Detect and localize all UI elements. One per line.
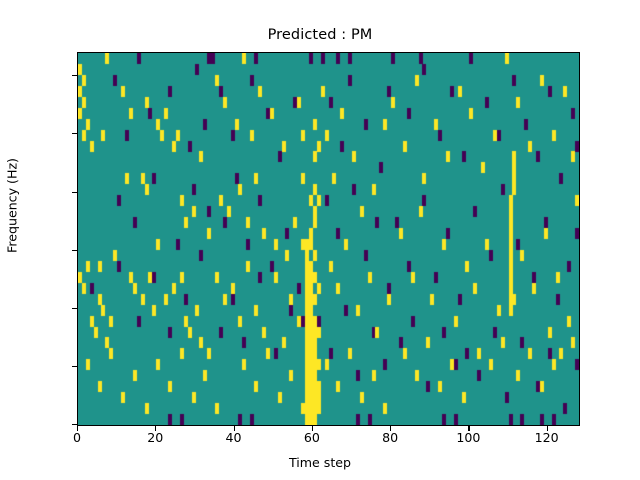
x-tick-label: 20 bbox=[115, 430, 195, 445]
y-axis-label: Frequency (Hz) bbox=[5, 6, 20, 406]
heatmap-axes bbox=[77, 52, 580, 426]
heatmap-image bbox=[78, 53, 579, 425]
chart-title: Predicted : PM bbox=[0, 27, 640, 43]
x-tick-label: 80 bbox=[350, 430, 430, 445]
matplotlib-figure: Predicted : PM Frequency (Hz) 0200004000… bbox=[0, 0, 640, 480]
x-tick-label: 120 bbox=[507, 430, 587, 445]
x-tick-label: 60 bbox=[272, 430, 352, 445]
x-tick-label: 100 bbox=[428, 430, 508, 445]
x-tick-label: 0 bbox=[37, 430, 117, 445]
x-tick-label: 40 bbox=[194, 430, 274, 445]
x-axis-label: Time step bbox=[0, 455, 640, 470]
